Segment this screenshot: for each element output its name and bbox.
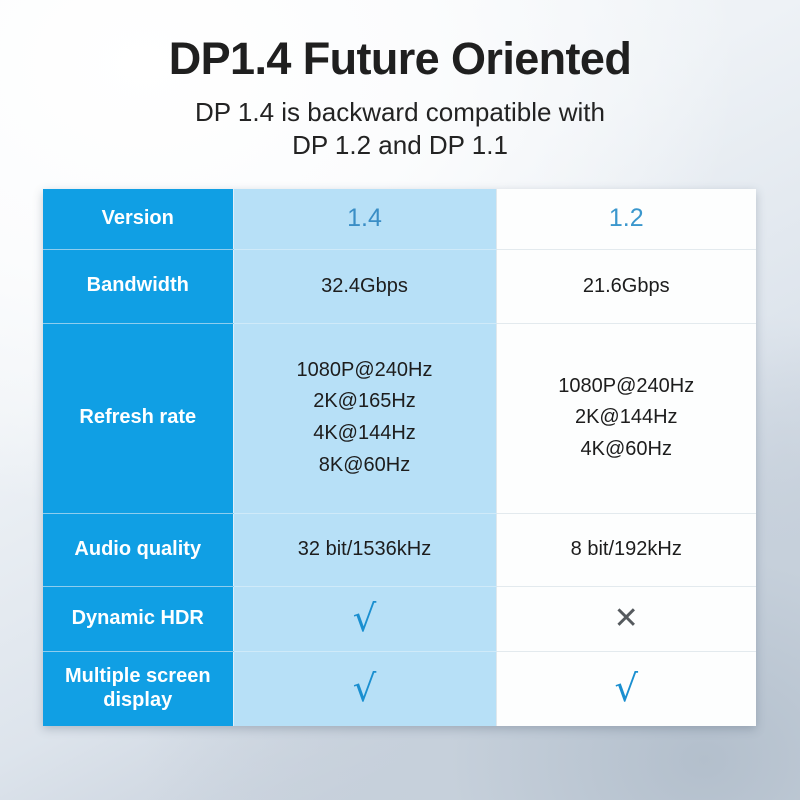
multi-screen-label-line-1: Multiple screen (65, 665, 211, 687)
cell-bandwidth-dp12: 21.6Gbps (496, 249, 756, 323)
cell-refresh-rate-dp14: 1080P@240Hz 2K@165Hz 4K@144Hz 8K@60Hz (233, 323, 496, 513)
refresh-dp14-line-1: 1080P@240Hz (234, 355, 496, 387)
bandwidth-dp12-value: 21.6Gbps (497, 271, 757, 302)
subtitle-line-2: DP 1.2 and DP 1.1 (0, 129, 800, 163)
table-row-bandwidth: Bandwidth 32.4Gbps 21.6Gbps (43, 249, 756, 323)
bandwidth-dp14-value: 32.4Gbps (234, 271, 496, 302)
check-mark-icon: √ (614, 670, 638, 707)
cell-version-dp12: 1.2 (496, 189, 756, 249)
refresh-dp14-line-3: 4K@144Hz (234, 418, 496, 450)
refresh-dp14-line-2: 2K@165Hz (234, 386, 496, 418)
table-row-audio-quality: Audio quality 32 bit/1536kHz 8 bit/192kH… (43, 513, 756, 586)
dp-version-comparison-table: Version 1.4 1.2 Bandwidth 32.4Gbps 21.6G… (43, 189, 756, 726)
refresh-dp14-line-4: 8K@60Hz (234, 450, 496, 482)
table-row-version: Version 1.4 1.2 (43, 189, 756, 249)
row-label-multiple-screen-display: Multiple screen display (43, 651, 233, 726)
product-info-graphic: DP1.4 Future Oriented DP 1.4 is backward… (0, 0, 800, 800)
row-label-refresh-rate: Refresh rate (43, 323, 233, 513)
cell-version-dp14: 1.4 (233, 189, 496, 249)
subtitle-line-1: DP 1.4 is backward compatible with (0, 96, 800, 130)
audio-dp14-value: 32 bit/1536kHz (234, 534, 496, 565)
check-mark-icon: √ (353, 670, 377, 707)
cell-bandwidth-dp14: 32.4Gbps (233, 249, 496, 323)
row-label-dynamic-hdr: Dynamic HDR (43, 586, 233, 651)
refresh-dp12-line-1: 1080P@240Hz (497, 371, 757, 403)
check-mark-icon: √ (353, 600, 377, 637)
refresh-dp12-line-2: 2K@144Hz (497, 402, 757, 434)
row-label-audio-quality: Audio quality (43, 513, 233, 586)
table-row-refresh-rate: Refresh rate 1080P@240Hz 2K@165Hz 4K@144… (43, 323, 756, 513)
cell-dynamic-hdr-dp12: ✕ (496, 586, 756, 651)
audio-dp12-value: 8 bit/192kHz (497, 534, 757, 565)
row-label-bandwidth: Bandwidth (43, 249, 233, 323)
page-title: DP1.4 Future Oriented (0, 34, 800, 84)
cell-refresh-rate-dp12: 1080P@240Hz 2K@144Hz 4K@60Hz (496, 323, 756, 513)
cell-audio-quality-dp12: 8 bit/192kHz (496, 513, 756, 586)
page-subtitle: DP 1.4 is backward compatible with DP 1.… (0, 96, 800, 164)
heading-block: DP1.4 Future Oriented DP 1.4 is backward… (0, 34, 800, 163)
cell-multiple-screen-dp14: √ (233, 651, 496, 726)
cell-multiple-screen-dp12: √ (496, 651, 756, 726)
refresh-dp12-line-3: 4K@60Hz (497, 434, 757, 466)
cell-dynamic-hdr-dp14: √ (233, 586, 496, 651)
row-label-version: Version (43, 189, 233, 249)
cell-audio-quality-dp14: 32 bit/1536kHz (233, 513, 496, 586)
table-row-multiple-screen-display: Multiple screen display √ √ (43, 651, 756, 726)
cross-mark-icon: ✕ (614, 604, 639, 634)
multi-screen-label-line-2: display (103, 689, 172, 711)
table-row-dynamic-hdr: Dynamic HDR √ ✕ (43, 586, 756, 651)
